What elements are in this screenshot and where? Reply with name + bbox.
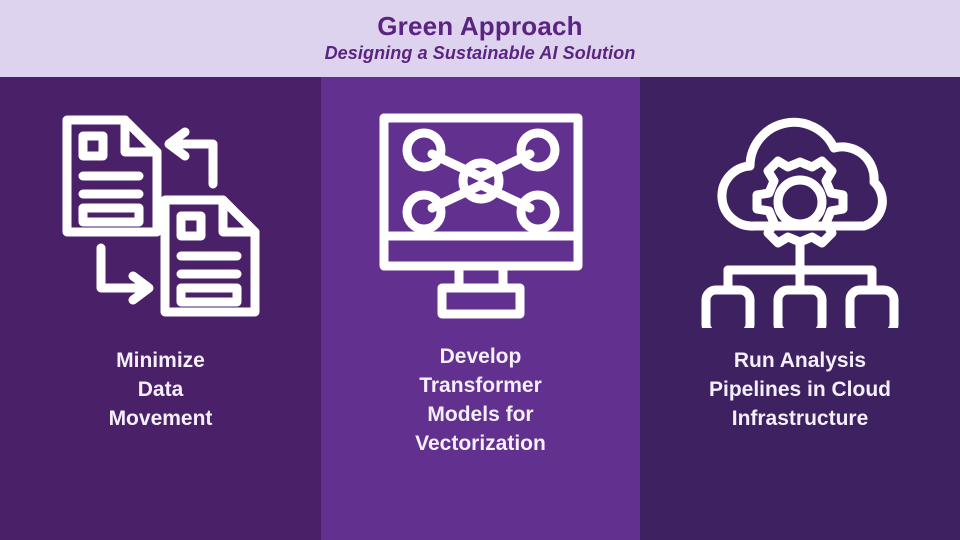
caption-line: Minimize	[14, 347, 307, 376]
column-minimize-data-movement[interactable]: Minimize Data Movement	[0, 77, 321, 540]
caption-line: Pipelines in Cloud	[654, 376, 946, 405]
caption-line: Movement	[14, 405, 307, 434]
page-subtitle: Designing a Sustainable AI Solution	[325, 43, 636, 64]
slide-canvas: Green Approach Designing a Sustainable A…	[0, 0, 960, 540]
column-run-analysis-pipelines[interactable]: Run Analysis Pipelines in Cloud Infrastr…	[640, 77, 960, 540]
slide-header: Green Approach Designing a Sustainable A…	[0, 0, 960, 77]
documents-exchange-icon	[0, 77, 321, 355]
column-develop-transformer-models[interactable]: Develop Transformer Models for Vectoriza…	[321, 77, 640, 540]
column-group: Minimize Data Movement	[0, 77, 960, 540]
column-caption: Minimize Data Movement	[0, 347, 321, 434]
column-caption: Run Analysis Pipelines in Cloud Infrastr…	[640, 347, 960, 434]
column-caption: Develop Transformer Models for Vectoriza…	[321, 343, 640, 459]
cloud-gear-infrastructure-icon	[640, 77, 960, 355]
caption-line: Models for	[335, 401, 626, 430]
page-title: Green Approach	[377, 13, 583, 40]
caption-line: Run Analysis	[654, 347, 946, 376]
caption-line: Vectorization	[335, 430, 626, 459]
caption-line: Data	[14, 376, 307, 405]
monitor-network-nodes-icon	[321, 77, 640, 355]
caption-line: Transformer	[335, 372, 626, 401]
caption-line: Infrastructure	[654, 405, 946, 434]
caption-line: Develop	[335, 343, 626, 372]
